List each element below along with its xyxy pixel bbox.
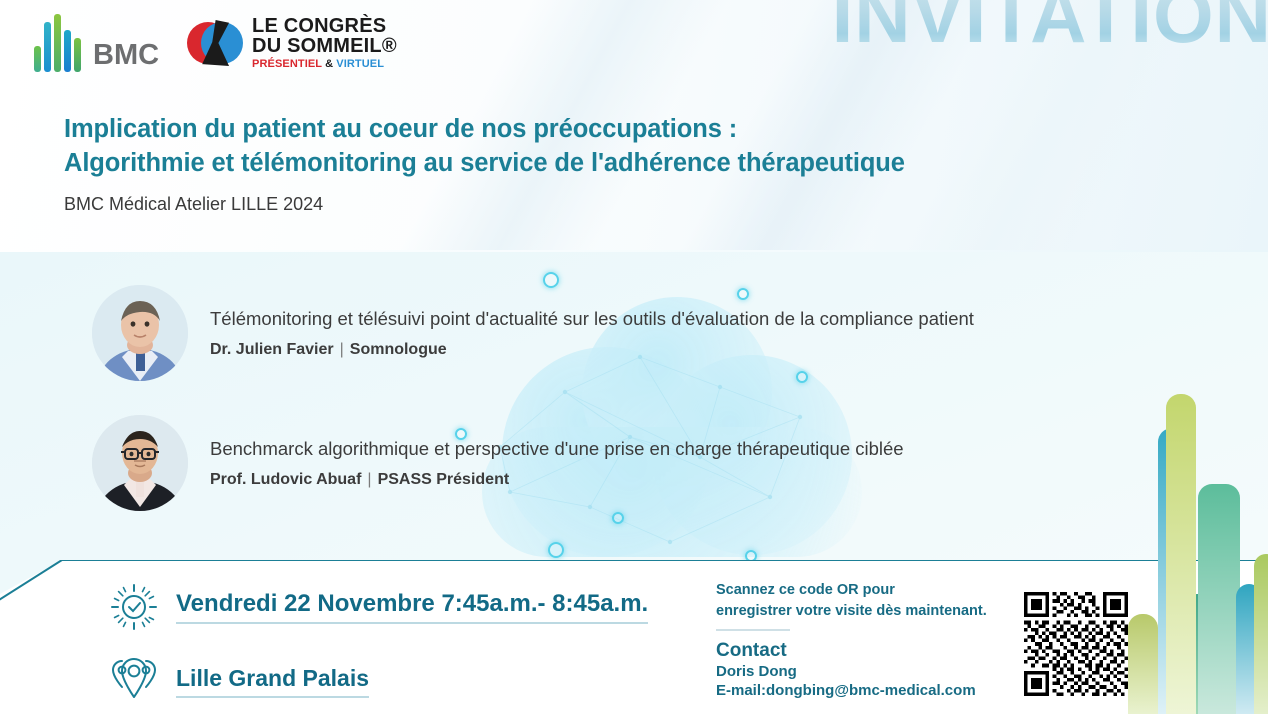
decorative-bars-graphic [1128,390,1268,714]
congres-amp: & [322,58,336,70]
bmc-bars-icon [34,14,84,72]
qr-code-icon[interactable] [1024,592,1128,696]
contact-divider [716,629,790,631]
speaker-role: PSASS Président [378,471,510,488]
scan-instruction-line-2: enregistrer votre visite dès maintenant. [716,601,1006,622]
speaker-separator: | [334,341,350,358]
scan-instruction-line-1: Scannez ce code OR pour [716,580,1006,601]
contact-block: Scannez ce code OR pour enregistrer votr… [716,580,1006,701]
speaker-meta: Prof. Ludovic Abuaf|PSASS Président [210,471,904,489]
speaker-separator: | [361,471,377,488]
event-date-time: Vendredi 22 Novembre 7:45a.m.- 8:45a.m. [176,590,648,624]
poster-title-line-1: Implication du patient au coeur de nos p… [64,112,905,146]
congres-line-2: DU SOMMEIL® [252,36,397,57]
speaker-name: Dr. Julien Favier [210,341,334,358]
speaker-portrait-icon [92,285,188,381]
avatar [92,415,188,511]
congres-presentiel: PRÉSENTIEL [252,58,322,70]
speaker-name: Prof. Ludovic Abuaf [210,471,361,488]
congres-du-sommeil-logo: LE CONGRÈS DU SOMMEIL® PRÉSENTIEL & VIRT… [187,16,397,71]
event-venue-row: Lille Grand Palais [108,655,369,707]
congres-mark-icon [187,20,243,66]
glow-dot [612,512,624,524]
glow-dot [548,542,564,558]
qr-code[interactable] [1024,592,1128,696]
speaker-role: Somnologue [350,341,447,358]
bmc-logo: BMC [34,14,159,72]
contact-email[interactable]: E-mail:dongbing@bmc-medical.com [716,682,1006,701]
logo-group: BMC LE CONGRÈS DU SOMMEIL® PRÉSENTIEL & … [34,14,397,72]
poster-subtitle: BMC Médical Atelier LILLE 2024 [64,194,905,215]
clock-check-icon [108,581,160,633]
event-venue: Lille Grand Palais [176,665,369,698]
speaker-text: Benchmarck algorithmique et perspective … [210,437,904,489]
contact-heading: Contact [716,640,1006,663]
congres-line-1: LE CONGRÈS [252,16,397,37]
speaker-portrait-icon [92,415,188,511]
speaker-talk-title: Benchmarck algorithmique et perspective … [210,437,904,460]
speaker-row: Télémonitoring et télésuivi point d'actu… [92,285,974,381]
speaker-text: Télémonitoring et télésuivi point d'actu… [210,307,974,359]
poster-title-line-2: Algorithmie et télémonitoring au service… [64,146,905,180]
bmc-logo-text: BMC [93,41,159,72]
invitation-poster: INVITATION BMC LE CONGRÈS DU SOMMEIL® [0,0,1268,714]
speaker-meta: Dr. Julien Favier|Somnologue [210,341,974,359]
contact-person: Doris Dong [716,663,1006,682]
congres-virtuel: VIRTUEL [336,58,384,70]
avatar [92,285,188,381]
map-pin-group-icon [108,655,160,707]
speaker-row: Benchmarck algorithmique et perspective … [92,415,904,511]
title-block: Implication du patient au coeur de nos p… [64,112,905,215]
event-date-row: Vendredi 22 Novembre 7:45a.m.- 8:45a.m. [108,581,648,633]
invitation-watermark: INVITATION [832,0,1268,61]
speaker-talk-title: Télémonitoring et télésuivi point d'actu… [210,307,974,330]
congres-wordmark: LE CONGRÈS DU SOMMEIL® PRÉSENTIEL & VIRT… [252,16,397,71]
congres-line-3: PRÉSENTIEL & VIRTUEL [252,59,397,70]
